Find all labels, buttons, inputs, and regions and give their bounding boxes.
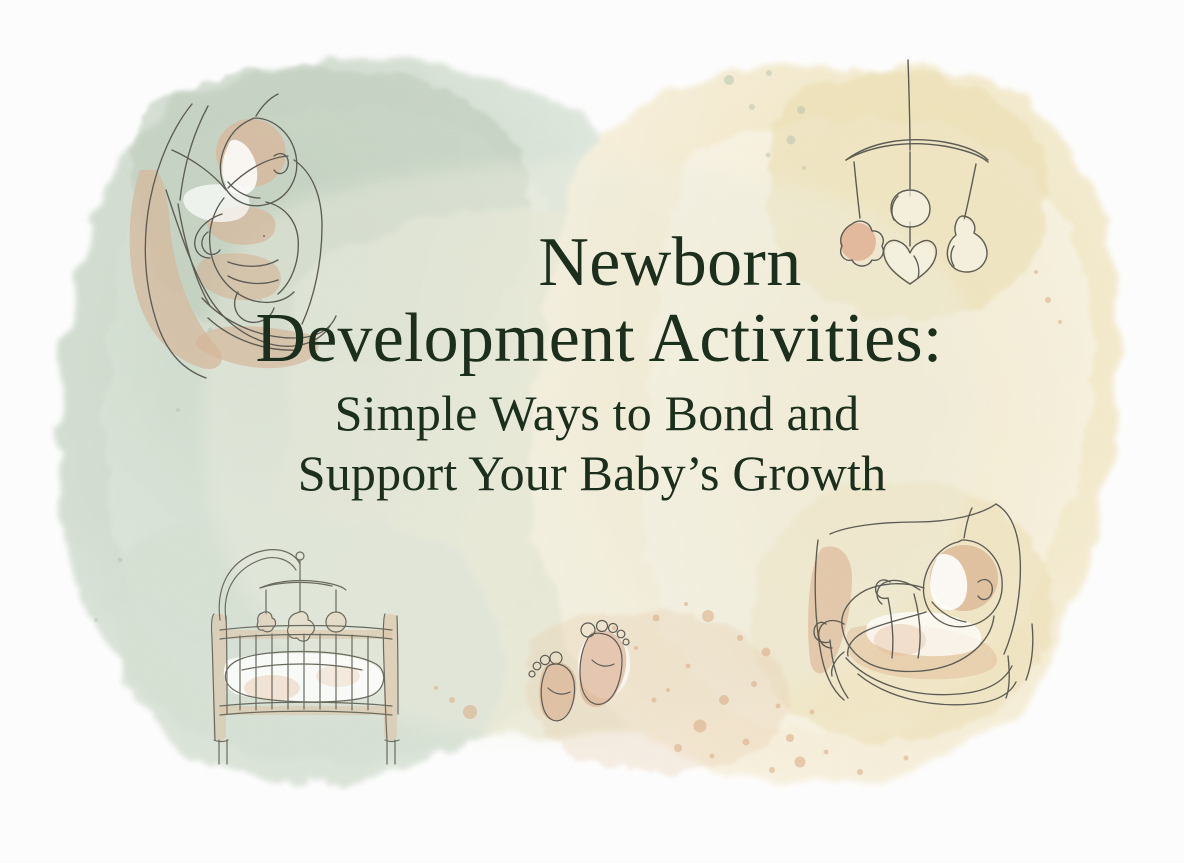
baby-lying-in-arms-illustration	[796, 478, 1066, 738]
crib-with-mobile-illustration	[186, 542, 428, 772]
subtitle-line-simple-ways: Simple Ways to Bond and	[0, 388, 1184, 438]
title-block: Newborn Development Activities: Simple W…	[0, 228, 1184, 498]
title-line-development-activities: Development Activities:	[0, 304, 1184, 374]
title-line-newborn: Newborn	[0, 228, 1184, 298]
baby-footprints-illustration	[526, 608, 696, 738]
subtitle-line-support-growth: Support Your Baby’s Growth	[0, 448, 1184, 498]
poster-canvas: Newborn Development Activities: Simple W…	[0, 0, 1184, 863]
